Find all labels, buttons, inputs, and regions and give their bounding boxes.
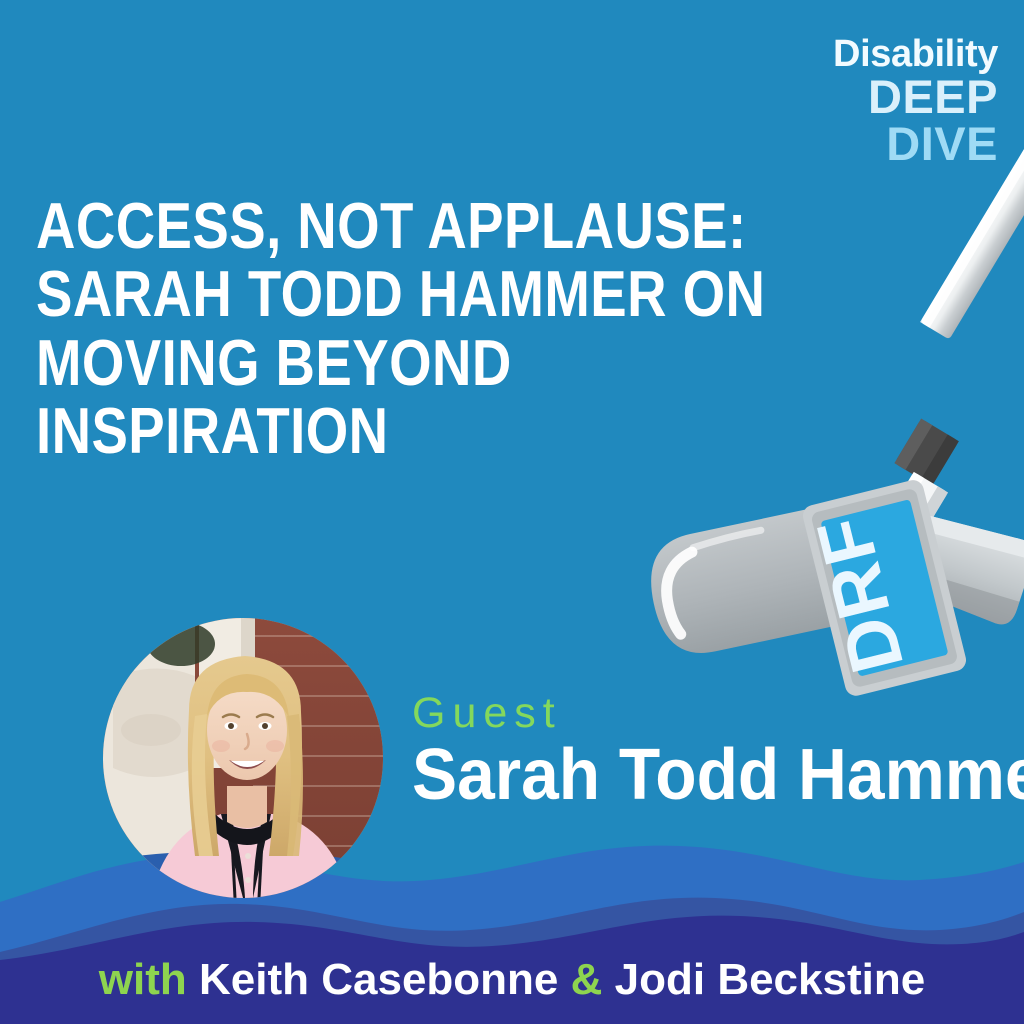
host-credits: with Keith Casebonne & Jodi Beckstine	[0, 958, 1024, 1002]
title-line-3: MOVING BEYOND	[36, 333, 674, 393]
podcast-cover-art: DRF Disability DEEP DIVE ACCESS, NOT APP…	[0, 0, 1024, 1024]
brand-line-dive: DIVE	[833, 121, 998, 167]
credits-ampersand: &	[571, 955, 603, 1004]
brand-line-deep: DEEP	[833, 74, 998, 120]
title-line-1: ACCESS, NOT APPLAUSE:	[36, 196, 674, 256]
title-line-2: SARAH TODD HAMMER ON	[36, 264, 674, 324]
brand-logo: Disability DEEP DIVE	[833, 36, 998, 167]
credits-with-word: with	[99, 955, 187, 1004]
brand-line-disability: Disability	[833, 36, 998, 73]
mic-flag: DRF	[796, 478, 969, 699]
title-line-4: INSPIRATION	[36, 401, 674, 461]
episode-title: ACCESS, NOT APPLAUSE: SARAH TODD HAMMER …	[36, 196, 796, 470]
guest-block: Guest Sarah Todd Hammer	[412, 692, 1024, 812]
credits-host-one: Keith Casebonne	[199, 955, 558, 1004]
guest-name: Sarah Todd Hammer	[412, 739, 1024, 812]
guest-label: Guest	[412, 692, 1024, 735]
credits-host-two: Jodi Beckstine	[615, 955, 926, 1004]
guest-photo	[103, 618, 383, 898]
